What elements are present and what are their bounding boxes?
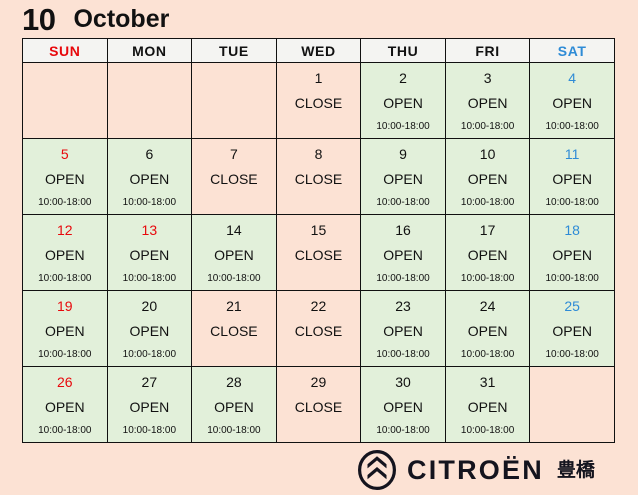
day-cell-content: 1CLOSE	[277, 63, 361, 138]
day-cell-content: 24OPEN10:00-18:00	[446, 291, 530, 366]
day-cell-content: 23OPEN10:00-18:00	[361, 291, 445, 366]
day-status-open: OPEN	[468, 324, 508, 338]
calendar-day-cell[interactable]: 18OPEN10:00-18:00	[530, 215, 615, 291]
citroen-dealer-locale: 豊橋	[557, 461, 595, 480]
day-cell-content: 8CLOSE	[277, 139, 361, 214]
day-number: 23	[395, 299, 411, 313]
day-number: 28	[226, 375, 242, 389]
calendar-day-cell[interactable]: 30OPEN10:00-18:00	[361, 367, 446, 443]
weekday-header-sat: SAT	[530, 39, 615, 63]
day-number: 12	[57, 223, 73, 237]
calendar-body: 1CLOSE2OPEN10:00-18:003OPEN10:00-18:004O…	[23, 63, 615, 443]
month-number: 10	[22, 4, 55, 35]
day-status-open: OPEN	[130, 400, 170, 414]
day-opening-hours: 10:00-18:00	[207, 274, 260, 284]
calendar-head: SUNMONTUEWEDTHUFRISAT	[23, 39, 615, 63]
day-opening-hours: 10:00-18:00	[38, 198, 91, 208]
day-opening-hours: 10:00-18:00	[376, 426, 429, 436]
calendar-day-cell[interactable]: 20OPEN10:00-18:00	[107, 291, 192, 367]
day-opening-hours: 10:00-18:00	[376, 122, 429, 132]
day-status-open: OPEN	[383, 172, 423, 186]
day-opening-hours: 10:00-18:00	[545, 350, 598, 360]
day-cell-content: 20OPEN10:00-18:00	[108, 291, 192, 366]
day-status-open: OPEN	[214, 248, 254, 262]
day-number: 26	[57, 375, 73, 389]
calendar-day-cell[interactable]: 8CLOSE	[276, 139, 361, 215]
day-cell-content: 2OPEN10:00-18:00	[361, 63, 445, 138]
calendar-week-row: 5OPEN10:00-18:006OPEN10:00-18:007CLOSE8C…	[23, 139, 615, 215]
day-number: 7	[230, 147, 238, 161]
day-status-open: OPEN	[45, 172, 85, 186]
day-cell-content: 29CLOSE	[277, 367, 361, 442]
day-number: 27	[142, 375, 158, 389]
day-status-open: OPEN	[383, 96, 423, 110]
day-opening-hours: 10:00-18:00	[123, 274, 176, 284]
day-opening-hours: 10:00-18:00	[461, 198, 514, 208]
calendar-day-cell[interactable]: 21CLOSE	[192, 291, 277, 367]
day-status-open: OPEN	[468, 248, 508, 262]
day-status-open: OPEN	[468, 400, 508, 414]
calendar-day-cell[interactable]: 12OPEN10:00-18:00	[23, 215, 108, 291]
calendar-day-cell[interactable]: 24OPEN10:00-18:00	[445, 291, 530, 367]
calendar-day-cell[interactable]: 28OPEN10:00-18:00	[192, 367, 277, 443]
calendar-day-cell[interactable]: 16OPEN10:00-18:00	[361, 215, 446, 291]
day-number: 2	[399, 71, 407, 85]
day-status-open: OPEN	[468, 96, 508, 110]
day-cell-content: 11OPEN10:00-18:00	[530, 139, 614, 214]
day-status-open: OPEN	[552, 324, 592, 338]
day-opening-hours: 10:00-18:00	[545, 198, 598, 208]
day-opening-hours: 10:00-18:00	[123, 198, 176, 208]
day-cell-content: 25OPEN10:00-18:00	[530, 291, 614, 366]
citroen-brand-logo: CITROËN 豊橋	[358, 450, 595, 490]
calendar-day-cell[interactable]: 2OPEN10:00-18:00	[361, 63, 446, 139]
calendar-day-cell[interactable]: 22CLOSE	[276, 291, 361, 367]
calendar-week-row: 12OPEN10:00-18:0013OPEN10:00-18:0014OPEN…	[23, 215, 615, 291]
day-number: 10	[480, 147, 496, 161]
calendar-day-cell-empty	[107, 63, 192, 139]
day-number: 6	[145, 147, 153, 161]
day-cell-content: 10OPEN10:00-18:00	[446, 139, 530, 214]
day-number: 11	[565, 147, 580, 161]
day-number: 25	[564, 299, 580, 313]
calendar-day-cell[interactable]: 9OPEN10:00-18:00	[361, 139, 446, 215]
opening-hours-calendar: SUNMONTUEWEDTHUFRISAT 1CLOSE2OPEN10:00-1…	[22, 38, 615, 443]
day-cell-content: 14OPEN10:00-18:00	[192, 215, 276, 290]
day-status-close: CLOSE	[210, 324, 257, 338]
day-number: 9	[399, 147, 407, 161]
calendar-week-row: 19OPEN10:00-18:0020OPEN10:00-18:0021CLOS…	[23, 291, 615, 367]
day-cell-content: 15CLOSE	[277, 215, 361, 290]
calendar-day-cell[interactable]: 10OPEN10:00-18:00	[445, 139, 530, 215]
citroen-wordmark: CITROËN	[407, 457, 544, 484]
day-opening-hours: 10:00-18:00	[38, 426, 91, 436]
day-status-open: OPEN	[383, 324, 423, 338]
day-cell-content	[530, 367, 614, 442]
day-opening-hours: 10:00-18:00	[123, 350, 176, 360]
weekday-header-mon: MON	[107, 39, 192, 63]
day-cell-content: 26OPEN10:00-18:00	[23, 367, 107, 442]
day-cell-content: 19OPEN10:00-18:00	[23, 291, 107, 366]
day-cell-content	[23, 63, 107, 138]
day-opening-hours: 10:00-18:00	[38, 274, 91, 284]
day-status-close: CLOSE	[295, 172, 342, 186]
calendar-day-cell[interactable]: 25OPEN10:00-18:00	[530, 291, 615, 367]
calendar-day-cell-empty	[192, 63, 277, 139]
calendar-day-cell[interactable]: 27OPEN10:00-18:00	[107, 367, 192, 443]
day-number: 1	[315, 71, 323, 85]
weekday-header-tue: TUE	[192, 39, 277, 63]
day-opening-hours: 10:00-18:00	[123, 426, 176, 436]
calendar-day-cell[interactable]: 7CLOSE	[192, 139, 277, 215]
weekday-header-thu: THU	[361, 39, 446, 63]
day-cell-content: 5OPEN10:00-18:00	[23, 139, 107, 214]
day-number: 18	[564, 223, 580, 237]
day-status-close: CLOSE	[295, 248, 342, 262]
day-status-close: CLOSE	[210, 172, 257, 186]
day-cell-content: 31OPEN10:00-18:00	[446, 367, 530, 442]
day-status-close: CLOSE	[295, 324, 342, 338]
day-opening-hours: 10:00-18:00	[461, 350, 514, 360]
day-cell-content: 18OPEN10:00-18:00	[530, 215, 614, 290]
day-status-open: OPEN	[45, 400, 85, 414]
day-opening-hours: 10:00-18:00	[461, 426, 514, 436]
day-status-open: OPEN	[383, 400, 423, 414]
calendar-day-cell-empty	[530, 367, 615, 443]
day-status-close: CLOSE	[295, 96, 342, 110]
day-cell-content: 9OPEN10:00-18:00	[361, 139, 445, 214]
day-number: 22	[311, 299, 327, 313]
day-cell-content: 16OPEN10:00-18:00	[361, 215, 445, 290]
day-cell-content	[108, 63, 192, 138]
day-cell-content: 17OPEN10:00-18:00	[446, 215, 530, 290]
day-cell-content: 30OPEN10:00-18:00	[361, 367, 445, 442]
day-opening-hours: 10:00-18:00	[207, 426, 260, 436]
day-status-close: CLOSE	[295, 400, 342, 414]
day-number: 14	[226, 223, 242, 237]
day-number: 30	[395, 375, 411, 389]
day-opening-hours: 10:00-18:00	[376, 274, 429, 284]
day-cell-content: 3OPEN10:00-18:00	[446, 63, 530, 138]
day-opening-hours: 10:00-18:00	[545, 274, 598, 284]
day-status-open: OPEN	[552, 172, 592, 186]
day-status-open: OPEN	[383, 248, 423, 262]
day-status-open: OPEN	[468, 172, 508, 186]
weekday-header-wed: WED	[276, 39, 361, 63]
calendar-week-row: 26OPEN10:00-18:0027OPEN10:00-18:0028OPEN…	[23, 367, 615, 443]
day-cell-content: 22CLOSE	[277, 291, 361, 366]
calendar-day-cell[interactable]: 3OPEN10:00-18:00	[445, 63, 530, 139]
day-cell-content: 21CLOSE	[192, 291, 276, 366]
day-status-open: OPEN	[214, 400, 254, 414]
day-status-open: OPEN	[45, 324, 85, 338]
day-number: 24	[480, 299, 496, 313]
day-status-open: OPEN	[552, 96, 592, 110]
weekday-header-fri: FRI	[445, 39, 530, 63]
month-name: October	[73, 7, 169, 32]
day-status-open: OPEN	[130, 248, 170, 262]
day-opening-hours: 10:00-18:00	[38, 350, 91, 360]
day-opening-hours: 10:00-18:00	[461, 122, 514, 132]
calendar-day-cell[interactable]: 29CLOSE	[276, 367, 361, 443]
citroen-chevrons-emblem	[358, 450, 396, 490]
calendar-day-cell[interactable]: 31OPEN10:00-18:00	[445, 367, 530, 443]
day-number: 17	[480, 223, 496, 237]
day-number: 29	[311, 375, 327, 389]
calendar-day-cell[interactable]: 19OPEN10:00-18:00	[23, 291, 108, 367]
day-number: 20	[142, 299, 158, 313]
day-number: 8	[315, 147, 323, 161]
calendar-day-cell[interactable]: 11OPEN10:00-18:00	[530, 139, 615, 215]
day-number: 5	[61, 147, 69, 161]
calendar-day-cell[interactable]: 1CLOSE	[276, 63, 361, 139]
day-number: 4	[568, 71, 576, 85]
day-opening-hours: 10:00-18:00	[376, 198, 429, 208]
calendar-day-cell[interactable]: 4OPEN10:00-18:00	[530, 63, 615, 139]
day-cell-content: 7CLOSE	[192, 139, 276, 214]
day-number: 21	[226, 299, 242, 313]
day-opening-hours: 10:00-18:00	[545, 122, 598, 132]
calendar-day-cell-empty	[23, 63, 108, 139]
day-number: 13	[142, 223, 158, 237]
day-cell-content: 27OPEN10:00-18:00	[108, 367, 192, 442]
day-status-open: OPEN	[130, 172, 170, 186]
day-number: 16	[395, 223, 411, 237]
day-status-open: OPEN	[552, 248, 592, 262]
day-cell-content: 4OPEN10:00-18:00	[530, 63, 614, 138]
calendar-day-cell[interactable]: 26OPEN10:00-18:00	[23, 367, 108, 443]
day-status-open: OPEN	[45, 248, 85, 262]
day-number: 19	[57, 299, 73, 313]
day-cell-content: 28OPEN10:00-18:00	[192, 367, 276, 442]
day-number: 3	[484, 71, 492, 85]
calendar-day-cell[interactable]: 5OPEN10:00-18:00	[23, 139, 108, 215]
day-opening-hours: 10:00-18:00	[461, 274, 514, 284]
day-cell-content: 13OPEN10:00-18:00	[108, 215, 192, 290]
weekday-header-sun: SUN	[23, 39, 108, 63]
calendar-day-cell[interactable]: 23OPEN10:00-18:00	[361, 291, 446, 367]
calendar-day-cell[interactable]: 13OPEN10:00-18:00	[107, 215, 192, 291]
calendar-week-row: 1CLOSE2OPEN10:00-18:003OPEN10:00-18:004O…	[23, 63, 615, 139]
calendar-day-cell[interactable]: 15CLOSE	[276, 215, 361, 291]
day-number: 15	[311, 223, 327, 237]
day-cell-content	[192, 63, 276, 138]
day-opening-hours: 10:00-18:00	[376, 350, 429, 360]
calendar-header: 10 October	[22, 2, 169, 36]
day-status-open: OPEN	[130, 324, 170, 338]
day-number: 31	[480, 375, 496, 389]
day-cell-content: 12OPEN10:00-18:00	[23, 215, 107, 290]
calendar-day-cell[interactable]: 17OPEN10:00-18:00	[445, 215, 530, 291]
calendar-day-cell[interactable]: 14OPEN10:00-18:00	[192, 215, 277, 291]
day-cell-content: 6OPEN10:00-18:00	[108, 139, 192, 214]
weekday-header-row: SUNMONTUEWEDTHUFRISAT	[23, 39, 615, 63]
calendar-day-cell[interactable]: 6OPEN10:00-18:00	[107, 139, 192, 215]
